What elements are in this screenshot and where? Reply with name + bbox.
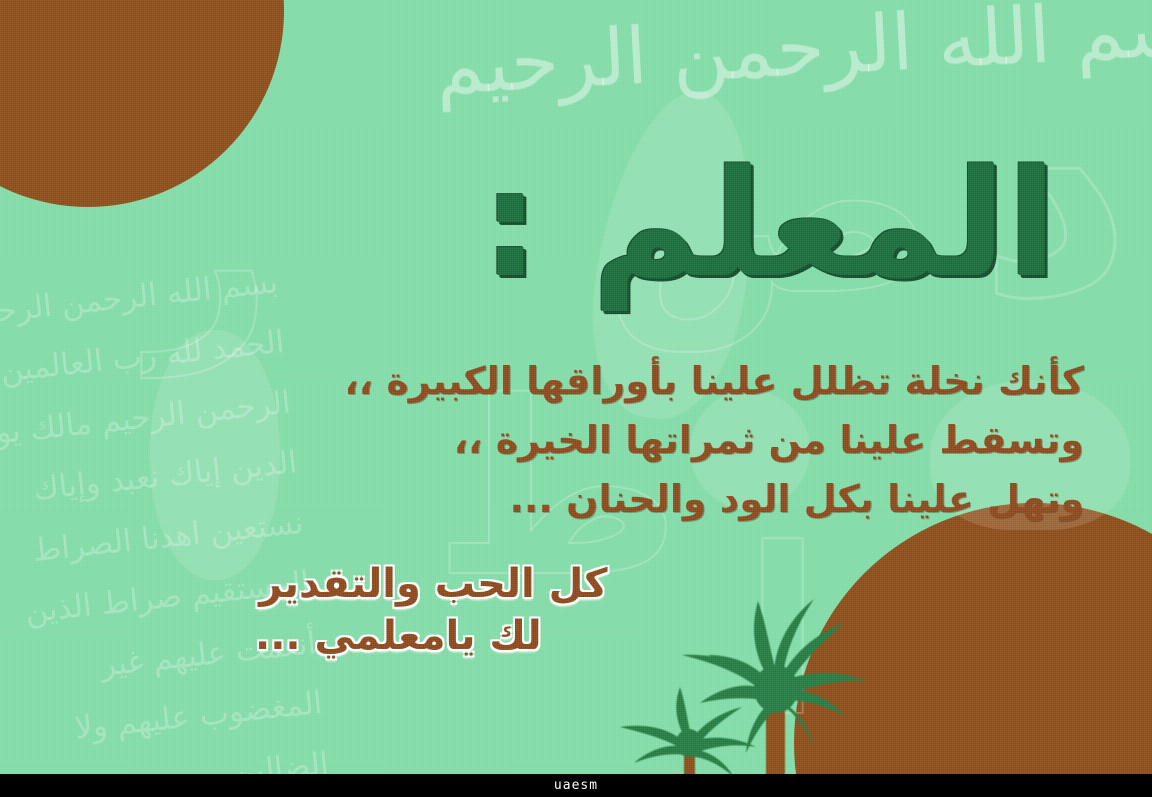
decorative-circle-top-left <box>0 0 284 207</box>
page-title: المعلم : <box>481 150 1057 298</box>
poem-line: كأنك نخلة تظلل علينا بأوراقها الكبيرة ،، <box>60 352 1084 411</box>
greeting-card: د ص ط ا ر بسم الله الرحمن الرحيم بسم الل… <box>0 0 1152 797</box>
site-watermark: uaesm <box>0 778 1152 793</box>
salutation-block: كل الحب والتقدير لك يامعلمي ... <box>255 558 612 662</box>
poem-line: وتسقط علينا من ثمراتها الخيرة ،، <box>60 411 1084 470</box>
salutation-line: كل الحب والتقدير <box>255 558 612 610</box>
salutation-line: لك يامعلمي ... <box>255 610 612 662</box>
bottom-bar: uaesm <box>0 774 1152 797</box>
palm-tree-illustration <box>608 567 938 797</box>
basmala-calligraphy-watermark: بسم الله الرحمن الرحيم <box>433 0 1152 112</box>
poem-line: وتهل علينا بكل الود والحنان ... <box>60 470 1084 529</box>
poem-block: كأنك نخلة تظلل علينا بأوراقها الكبيرة ،،… <box>60 352 1084 529</box>
